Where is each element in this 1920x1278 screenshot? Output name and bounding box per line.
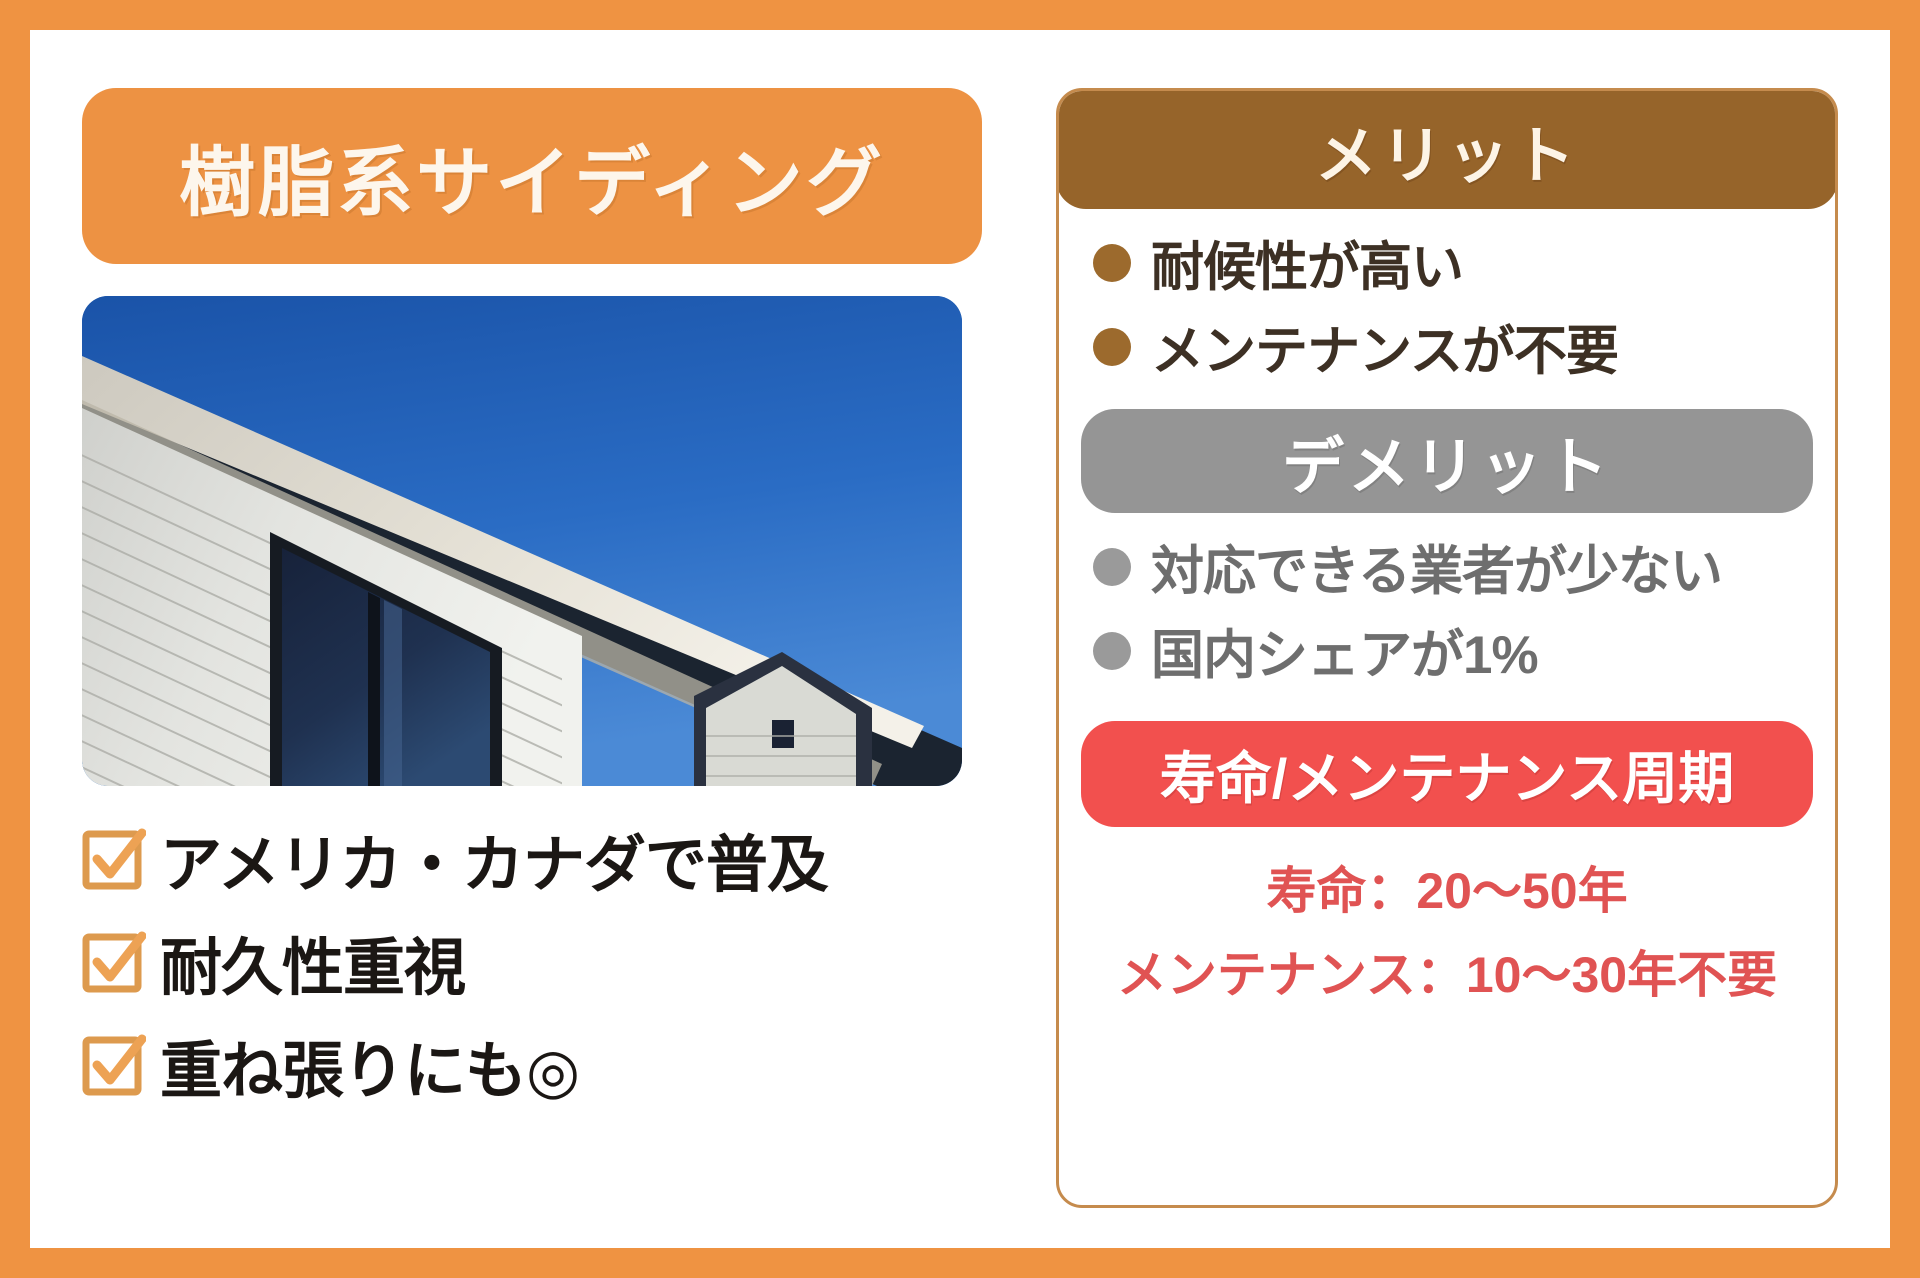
checklist-label: アメリカ・カナダで普及: [160, 814, 828, 904]
demerit-item-label: 国内シェアが1%: [1151, 613, 1538, 689]
list-item: アメリカ・カナダで普及: [82, 814, 1012, 904]
lifespan-line: 寿命：20〜50年: [1266, 851, 1627, 923]
vinyl-siding-house-photo: [82, 296, 962, 786]
demerit-heading: デメリット: [1081, 409, 1813, 513]
list-item: 対応できる業者が少ない: [1093, 529, 1835, 605]
merit-item-label: 耐候性が高い: [1151, 225, 1463, 301]
left-column: 樹脂系サイディング: [82, 88, 1012, 1208]
list-item: メンテナンスが不要: [1093, 309, 1835, 385]
checkbox-checked-icon: [82, 930, 146, 994]
bullet-dot-icon: [1093, 328, 1131, 366]
checkbox-checked-icon: [82, 1033, 146, 1097]
infographic-card: 樹脂系サイディング: [30, 30, 1890, 1248]
bullet-dot-icon: [1093, 548, 1131, 586]
demerit-list: 対応できる業者が少ない 国内シェアが1%: [1059, 513, 1835, 695]
maintenance-line: メンテナンス：10〜30年不要: [1117, 935, 1777, 1007]
demerit-item-label: 対応できる業者が少ない: [1151, 529, 1722, 605]
checkbox-checked-icon: [82, 827, 146, 891]
photo-illustration: [82, 296, 962, 786]
list-item: 重ね張りにも◎: [82, 1020, 1012, 1110]
page-title: 樹脂系サイディング: [82, 88, 982, 264]
checklist-label: 重ね張りにも◎: [160, 1020, 579, 1110]
list-item: 耐久性重視: [82, 917, 1012, 1007]
feature-checklist: アメリカ・カナダで普及 耐久性重視 重ね張り: [82, 814, 1012, 1110]
pros-cons-panel: メリット 耐候性が高い メンテナンスが不要 デメリット 対応できる業者が少ない …: [1056, 88, 1838, 1208]
bullet-dot-icon: [1093, 632, 1131, 670]
lifespan-heading: 寿命/メンテナンス周期: [1081, 721, 1813, 827]
list-item: 国内シェアが1%: [1093, 613, 1835, 689]
checklist-label: 耐久性重視: [160, 917, 465, 1007]
merit-item-label: メンテナンスが不要: [1151, 309, 1618, 385]
list-item: 耐候性が高い: [1093, 225, 1835, 301]
lifespan-values: 寿命：20〜50年 メンテナンス：10〜30年不要: [1059, 827, 1835, 1007]
merit-heading: メリット: [1056, 91, 1838, 209]
merit-list: 耐候性が高い メンテナンスが不要: [1059, 209, 1835, 391]
bullet-dot-icon: [1093, 244, 1131, 282]
